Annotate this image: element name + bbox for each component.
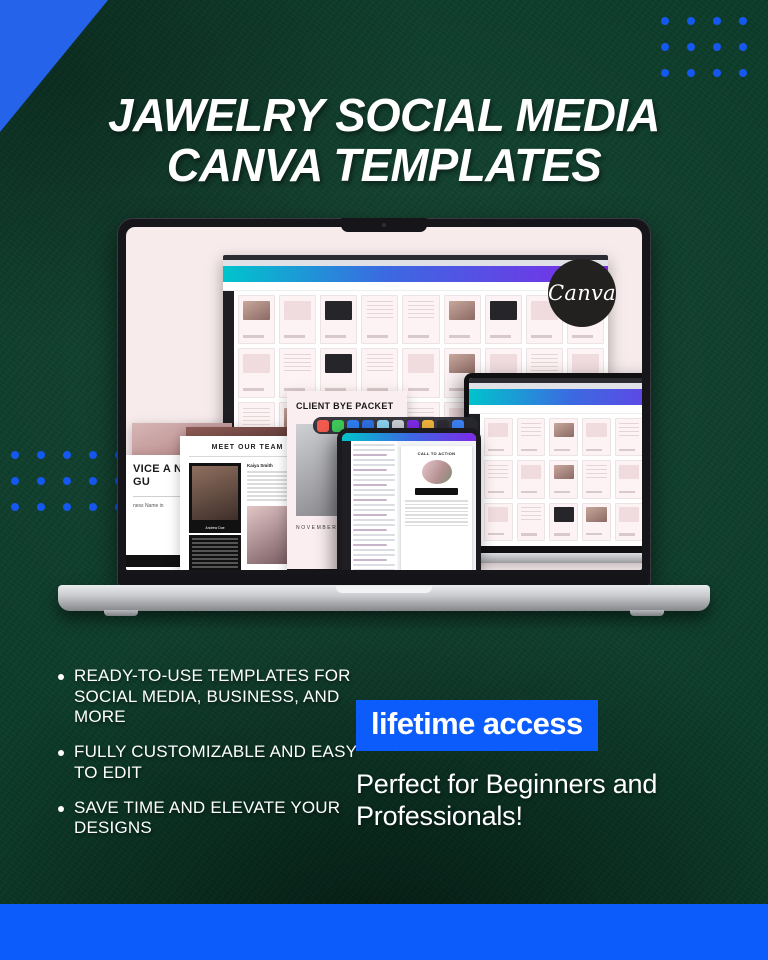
laptop-foot-left	[104, 610, 138, 616]
dot	[687, 17, 695, 25]
template-thumb	[549, 503, 578, 541]
team-member-bio-block	[189, 535, 241, 570]
cta-button	[415, 488, 458, 495]
tablet-canvas: CALL TO ACTION	[397, 441, 476, 570]
headline-line-2: CANVA TEMPLATES	[4, 142, 764, 188]
dot	[661, 17, 669, 25]
canva-editor-window-secondary	[469, 378, 642, 546]
dot	[661, 69, 669, 77]
packet-card-title: CLIENT BYE PACKET	[296, 401, 398, 412]
bullet-marker-icon	[58, 674, 64, 680]
feature-text: SAVE TIME AND ELEVATE YOUR DESIGNS	[74, 798, 358, 839]
dot	[713, 69, 721, 77]
feature-list: READY-TO-USE TEMPLATES FOR SOCIAL MEDIA,…	[58, 666, 358, 853]
template-thumb	[615, 460, 642, 498]
page-title: JAWELRY SOCIAL MEDIA CANVA TEMPLATES	[4, 92, 764, 188]
template-thumb	[517, 460, 546, 498]
template-thumb	[484, 503, 513, 541]
canva-app-header	[469, 389, 642, 405]
secondary-laptop-screen	[469, 378, 642, 546]
dock-icon-finder[interactable]	[317, 420, 329, 432]
cta-image	[422, 460, 452, 484]
team-member-photo	[189, 463, 241, 523]
team-member-column: Andrew Doe	[189, 463, 241, 570]
canva-content-area	[469, 414, 642, 546]
dot	[739, 17, 747, 25]
dot	[713, 43, 721, 51]
tablet-app-header	[342, 433, 476, 441]
list-item: FULLY CUSTOMIZABLE AND EASY TO EDIT	[58, 742, 358, 783]
cta-body-text	[405, 500, 468, 526]
list-item: SAVE TIME AND ELEVATE YOUR DESIGNS	[58, 798, 358, 839]
dot-grid-top-right	[652, 8, 756, 86]
lifetime-access-badge: lifetime access	[356, 700, 598, 751]
bottom-accent-bar	[0, 904, 768, 960]
template-thumb	[517, 418, 546, 456]
template-thumb	[484, 418, 513, 456]
cta-title: CALL TO ACTION	[405, 451, 468, 456]
promo-subtitle: Perfect for Beginners and Professionals!	[356, 769, 696, 832]
headline-line-1: JAWELRY SOCIAL MEDIA	[4, 92, 764, 138]
template-thumb	[549, 418, 578, 456]
dot	[739, 43, 747, 51]
laptop-mockup: Canva	[0, 218, 768, 618]
feature-text: READY-TO-USE TEMPLATES FOR SOCIAL MEDIA,…	[74, 666, 358, 728]
laptop-foot-right	[630, 610, 664, 616]
template-thumb	[549, 460, 578, 498]
template-grid	[480, 414, 642, 546]
template-thumb	[615, 418, 642, 456]
laptop-lid: Canva	[117, 218, 651, 586]
template-thumb	[582, 460, 611, 498]
template-thumb	[615, 503, 642, 541]
tablet-layers-panel	[351, 441, 397, 570]
tablet-content-area: CALL TO ACTION	[342, 441, 476, 570]
canva-logo-badge: Canva	[548, 259, 616, 327]
feature-text: FULLY CUSTOMIZABLE AND EASY TO EDIT	[74, 742, 358, 783]
dot	[687, 69, 695, 77]
list-item: READY-TO-USE TEMPLATES FOR SOCIAL MEDIA,…	[58, 666, 358, 728]
secondary-laptop-mockup	[464, 373, 642, 555]
tablet-design-page: CALL TO ACTION	[401, 446, 472, 570]
poster-canvas: JAWELRY SOCIAL MEDIA CANVA TEMPLATES Can…	[0, 0, 768, 960]
dot	[713, 17, 721, 25]
tablet-side-rail	[342, 441, 351, 570]
team-member-caption: Andrew Doe	[189, 523, 241, 533]
template-thumb	[582, 418, 611, 456]
dot	[661, 43, 669, 51]
laptop-screen: Canva	[126, 227, 642, 570]
laptop-base	[58, 585, 710, 611]
bullet-marker-icon	[58, 806, 64, 812]
template-thumb	[582, 503, 611, 541]
dot	[687, 43, 695, 51]
tablet-screen: CALL TO ACTION	[342, 433, 476, 570]
promo-block: lifetime access Perfect for Beginners an…	[356, 700, 696, 832]
tablet-mockup: CALL TO ACTION	[337, 428, 481, 570]
bullet-marker-icon	[58, 750, 64, 756]
dot	[739, 69, 747, 77]
template-thumb	[484, 460, 513, 498]
template-thumb	[517, 503, 546, 541]
laptop-notch-camera	[341, 218, 427, 232]
canva-toolbar	[469, 405, 642, 414]
